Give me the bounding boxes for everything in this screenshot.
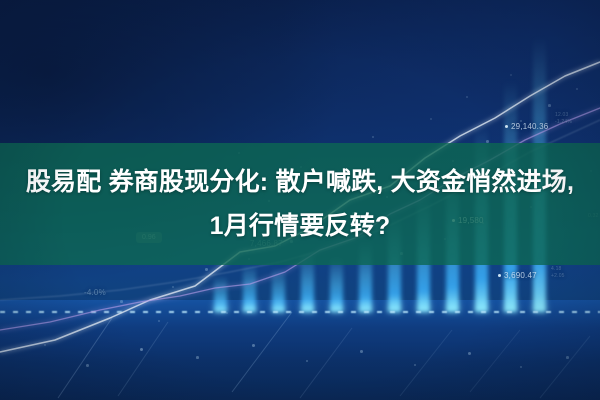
- particle-dot: [196, 356, 199, 359]
- particle-dot: [252, 344, 255, 347]
- particle-dot: [430, 118, 432, 120]
- particle-dot: [86, 364, 89, 367]
- data-point-marker-icon: [498, 274, 501, 277]
- page-title-line-1: 股易配 券商股现分化: 散户喊跌, 大资金悄然进场,: [26, 168, 574, 196]
- chart-data-label: +2.05: [551, 273, 565, 280]
- page-title-line-2: 1月行情要反转?: [210, 212, 391, 240]
- chart-data-label: 3,690.47: [498, 271, 537, 280]
- particle-dot: [548, 104, 551, 107]
- particle-dot: [205, 268, 208, 271]
- data-point-marker-icon: [505, 125, 508, 128]
- chart-data-label: 4.18: [551, 266, 562, 273]
- chart-data-label: -4.0%: [84, 288, 106, 297]
- particle-dot: [468, 352, 471, 355]
- particle-dot: [360, 350, 363, 353]
- headline-band: 股易配 券商股现分化: 散户喊跌, 大资金悄然进场, 1月行情要反转?: [0, 143, 600, 265]
- particle-dot: [566, 356, 569, 359]
- diagonal-streaks: [58, 312, 590, 398]
- particle-dot: [120, 300, 123, 303]
- particle-dot: [226, 312, 228, 314]
- stock-banner-image: 29,140.3619,5803,690.477,466.87-4.0%0.96…: [0, 0, 600, 400]
- page-title: 股易配 券商股现分化: 散户喊跌, 大资金悄然进场, 1月行情要反转?: [0, 160, 600, 248]
- chart-data-label: 12.03: [555, 112, 569, 119]
- chart-data-label: -1.24%: [555, 119, 572, 126]
- particle-dot: [510, 74, 512, 76]
- chart-data-label: 29,140.36: [505, 122, 548, 131]
